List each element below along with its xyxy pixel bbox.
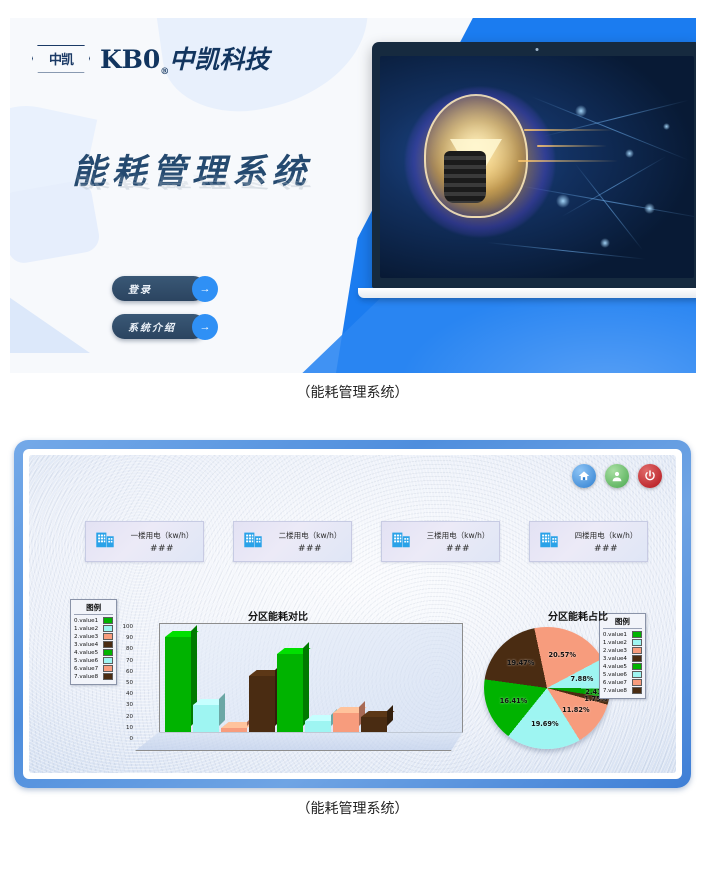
hero-caption: （能耗管理系统）	[0, 382, 705, 402]
legend-swatch	[632, 631, 642, 638]
bar-chart-title: 分区能耗对比	[248, 608, 308, 623]
legend-item: 2.value3	[74, 633, 113, 640]
legend-item: 3.value4	[603, 655, 642, 662]
dashboard-section: 一楼用电（kw/h） ### 二楼用电（kw/h） ### 三楼用电（kw/h）…	[0, 440, 705, 788]
hero-title-block: 能耗管理系统 能耗管理系统	[72, 144, 312, 244]
arrow-right-icon: →	[192, 276, 218, 302]
legend-item: 0.value1	[74, 617, 113, 624]
user-icon[interactable]	[605, 464, 629, 488]
legend-item-label: 0.value1	[74, 618, 98, 624]
legend-item: 6.value7	[74, 665, 113, 672]
legend-swatch	[632, 639, 642, 646]
legend-item: 2.value3	[603, 647, 642, 654]
system-intro-button[interactable]: 系统介绍 →	[112, 314, 206, 339]
y-tick: 10	[126, 725, 133, 731]
legend-swatch	[103, 617, 113, 624]
bar	[305, 721, 331, 732]
bar	[249, 676, 275, 732]
legend-swatch	[103, 673, 113, 680]
y-tick: 40	[126, 691, 133, 697]
legend-item: 5.value6	[603, 671, 642, 678]
building-icon	[538, 528, 560, 555]
plot-floor	[135, 732, 463, 751]
legend-swatch	[632, 679, 642, 686]
pie-chart-legend: 图例 0.value1 1.value2 2.value3 3.value4 4…	[599, 613, 646, 699]
legend-swatch	[632, 647, 642, 654]
legend-swatch	[103, 633, 113, 640]
kpi-label: 一楼用电（kw/h）	[131, 530, 194, 541]
legend-item-label: 1.value2	[603, 640, 627, 646]
bar-chart-legend: 图例 0.value1 1.value2 2.value3 3.value4 4…	[70, 599, 117, 685]
bar-front-face	[249, 676, 275, 732]
pie-chart: 20.57%7.88%2.41%1.75%11.82%19.69%16.41%1…	[484, 627, 614, 753]
legend-item-label: 4.value5	[603, 664, 627, 670]
decorative-blue-glow	[396, 287, 696, 373]
pie-slice-label: 20.57%	[548, 651, 575, 659]
bar-front-face	[165, 637, 191, 732]
legend-item: 4.value5	[74, 649, 113, 656]
bar	[333, 713, 359, 732]
bar-front-face	[361, 717, 387, 732]
legend-item: 7.value8	[603, 687, 642, 694]
dashboard-frame: 一楼用电（kw/h） ### 二楼用电（kw/h） ### 三楼用电（kw/h）…	[14, 440, 691, 788]
legend-item-label: 2.value3	[603, 648, 627, 654]
legend-swatch	[103, 641, 113, 648]
kpi-value: ###	[150, 544, 174, 554]
login-button-label: 登录	[128, 281, 152, 296]
pie-slice-label: 11.82%	[562, 706, 589, 714]
bar	[361, 717, 387, 732]
bulb-base	[444, 151, 486, 203]
kpi-card-row: 一楼用电（kw/h） ### 二楼用电（kw/h） ### 三楼用电（kw/h）…	[85, 521, 648, 562]
registered-mark: ®	[160, 67, 169, 77]
legend-swatch	[632, 671, 642, 678]
legend-item: 1.value2	[603, 639, 642, 646]
legend-item-label: 7.value8	[74, 674, 98, 680]
bar-front-face	[305, 721, 331, 732]
logo-diamond-icon: 中凯	[32, 45, 90, 73]
login-button[interactable]: 登录 →	[112, 276, 206, 301]
laptop-screen	[380, 56, 694, 278]
dashboard-screen: 一楼用电（kw/h） ### 二楼用电（kw/h） ### 三楼用电（kw/h）…	[29, 455, 676, 773]
building-icon	[94, 528, 116, 555]
hero-section: 中凯 KB0®中凯科技 能耗管理系统 能耗管理系统 登录 → 系统介绍 →	[0, 0, 705, 372]
bar	[165, 637, 191, 732]
bar-front-face	[221, 728, 247, 732]
y-tick: 50	[126, 680, 133, 686]
bar	[193, 705, 219, 732]
pie-slice-label: 19.47%	[507, 659, 534, 667]
legend-item-label: 4.value5	[74, 650, 98, 656]
arrow-right-icon: →	[192, 314, 218, 340]
kpi-card[interactable]: 一楼用电（kw/h） ###	[85, 521, 204, 562]
legend-item: 4.value5	[603, 663, 642, 670]
kpi-label: 四楼用电（kw/h）	[575, 530, 638, 541]
y-tick: 100	[123, 624, 134, 630]
laptop-body	[372, 42, 696, 288]
bar-front-face	[277, 654, 303, 732]
legend-swatch	[103, 625, 113, 632]
laptop-illustration	[372, 42, 696, 298]
legend-title: 图例	[74, 602, 113, 615]
legend-item-label: 1.value2	[74, 626, 98, 632]
power-icon[interactable]	[638, 464, 662, 488]
y-tick: 30	[126, 702, 133, 708]
bar-front-face	[193, 705, 219, 732]
webcam-icon	[536, 48, 539, 51]
legend-item-label: 6.value7	[603, 680, 627, 686]
legend-item-label: 7.value8	[603, 688, 627, 694]
legend-item: 6.value7	[603, 679, 642, 686]
y-tick: 0	[130, 736, 134, 742]
legend-item: 7.value8	[74, 673, 113, 680]
y-tick: 90	[126, 635, 133, 641]
kpi-label: 三楼用电（kw/h）	[427, 530, 490, 541]
building-icon	[390, 528, 412, 555]
legend-item-label: 0.value1	[603, 632, 627, 638]
y-tick: 20	[126, 714, 133, 720]
kpi-value: ###	[446, 544, 470, 554]
kpi-card[interactable]: 四楼用电（kw/h） ###	[529, 521, 648, 562]
legend-title: 图例	[603, 616, 642, 629]
brand-name-en: KB0	[100, 45, 160, 74]
bar-front-face	[333, 713, 359, 732]
legend-items: 0.value1 1.value2 2.value3 3.value4 4.va…	[603, 631, 642, 694]
y-tick: 70	[126, 658, 133, 664]
legend-swatch	[632, 655, 642, 662]
building-icon	[242, 528, 264, 555]
brand-name-cn: 中凯科技	[169, 45, 269, 74]
y-tick: 60	[126, 669, 133, 675]
home-icon[interactable]	[572, 464, 596, 488]
legend-items: 0.value1 1.value2 2.value3 3.value4 4.va…	[74, 617, 113, 680]
brand-logo: 中凯 KB0®中凯科技	[32, 40, 269, 77]
legend-item: 0.value1	[603, 631, 642, 638]
kpi-label: 二楼用电（kw/h）	[279, 530, 342, 541]
dashboard-caption: （能耗管理系统）	[0, 798, 705, 818]
dashboard-toolbar	[572, 464, 662, 488]
brand-name: KB0®中凯科技	[100, 40, 269, 77]
dashboard-inner-frame: 一楼用电（kw/h） ### 二楼用电（kw/h） ### 三楼用电（kw/h）…	[23, 449, 682, 779]
kpi-value: ###	[594, 544, 618, 554]
laptop-base	[358, 288, 696, 298]
bar-side-face	[303, 642, 309, 726]
legend-item-label: 5.value6	[603, 672, 627, 678]
kpi-card[interactable]: 三楼用电（kw/h） ###	[381, 521, 500, 562]
legend-swatch	[632, 663, 642, 670]
legend-item-label: 3.value4	[74, 642, 98, 648]
legend-item-label: 3.value4	[603, 656, 627, 662]
legend-item: 3.value4	[74, 641, 113, 648]
bar	[277, 654, 303, 732]
legend-swatch	[103, 649, 113, 656]
bar-chart-plot-area	[135, 623, 463, 751]
pie-slice-label: 19.69%	[531, 720, 558, 728]
legend-swatch	[632, 687, 642, 694]
kpi-value: ###	[298, 544, 322, 554]
legend-item-label: 6.value7	[74, 666, 98, 672]
legend-item: 5.value6	[74, 657, 113, 664]
bar	[221, 728, 247, 732]
pie-chart-title: 分区能耗占比	[548, 608, 608, 623]
y-tick: 80	[126, 646, 133, 652]
logo-mark-text: 中凯	[49, 49, 73, 68]
pie-slice-label: 16.41%	[500, 697, 527, 705]
hero-button-stack: 登录 → 系统介绍 →	[112, 276, 206, 352]
legend-swatch	[103, 665, 113, 672]
hero-panel: 中凯 KB0®中凯科技 能耗管理系统 能耗管理系统 登录 → 系统介绍 →	[10, 18, 696, 373]
bar-side-face	[219, 693, 225, 726]
decorative-blob-left-3	[10, 258, 90, 353]
bar-series	[165, 622, 387, 732]
pie-slice-label: 7.88%	[571, 675, 594, 683]
kpi-card[interactable]: 二楼用电（kw/h） ###	[233, 521, 352, 562]
legend-swatch	[103, 657, 113, 664]
bar-chart: 0102030405060708090100	[113, 623, 463, 751]
hero-title-reflection: 能耗管理系统	[72, 170, 312, 195]
legend-item-label: 2.value3	[74, 634, 98, 640]
system-intro-button-label: 系统介绍	[128, 319, 176, 334]
legend-item-label: 5.value6	[74, 658, 98, 664]
legend-item: 1.value2	[74, 625, 113, 632]
